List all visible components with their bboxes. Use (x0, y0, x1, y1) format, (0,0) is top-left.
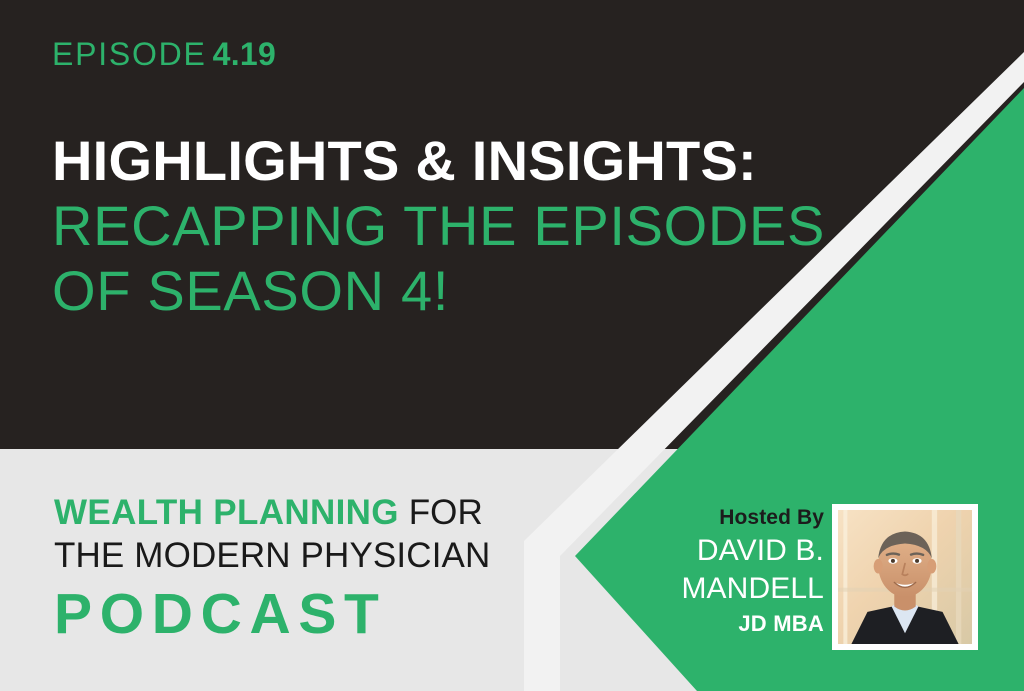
brand-line-1: WEALTH PLANNING FOR (54, 492, 524, 533)
episode-number: 4.19 (213, 36, 277, 72)
podcast-brand-lockup: WEALTH PLANNING FOR THE MODERN PHYSICIAN… (54, 492, 524, 643)
episode-word: EPISODE (52, 36, 207, 72)
title-line-1: HIGHLIGHTS & INSIGHTS: (52, 128, 842, 193)
title-line-2: RECAPPING THE EPISODES (52, 193, 842, 258)
title-line-3: OF SEASON 4! (52, 258, 842, 323)
host-headshot-icon (838, 510, 972, 644)
host-credit: Hosted By DAVID B. MANDELL JD MBA (636, 506, 824, 636)
hosted-by-label: Hosted By (636, 506, 824, 529)
episode-label-row: EPISODE4.19 (52, 38, 276, 70)
host-name-line-1: DAVID B. (636, 535, 824, 567)
host-credentials: JD MBA (636, 612, 824, 636)
brand-podcast-word: PODCAST (54, 585, 524, 643)
brand-accent-text: WEALTH PLANNING (54, 493, 399, 532)
host-photo-frame (832, 504, 978, 650)
brand-line-2: THE MODERN PHYSICIAN (54, 535, 524, 577)
podcast-episode-cover: EPISODE4.19 HIGHLIGHTS & INSIGHTS: RECAP… (0, 0, 1024, 691)
brand-for-text: FOR (409, 493, 483, 532)
host-name-line-2: MANDELL (636, 573, 824, 605)
episode-title: HIGHLIGHTS & INSIGHTS: RECAPPING THE EPI… (52, 128, 842, 324)
